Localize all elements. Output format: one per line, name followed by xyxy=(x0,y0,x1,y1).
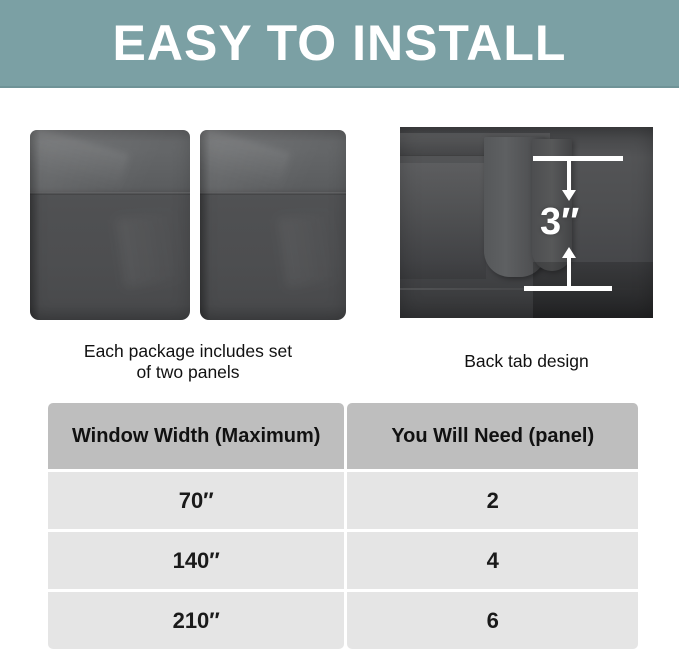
product-figures: 3″ xyxy=(0,88,679,333)
page-title: EASY TO INSTALL xyxy=(113,18,567,68)
caption-left-line1: Each package includes set xyxy=(30,341,346,362)
back-tab-photo: 3″ xyxy=(400,127,653,318)
caption-left-line2: of two panels xyxy=(30,362,346,383)
panel-crease-icon xyxy=(200,130,291,191)
shadow-region xyxy=(533,262,653,318)
cell-window-width: 70″ xyxy=(48,472,344,529)
caption-right: Back tab design xyxy=(400,351,653,372)
fabric-fold-left xyxy=(400,163,486,279)
table-row: 210″ 6 xyxy=(48,592,638,649)
cell-window-width: 140″ xyxy=(48,532,344,589)
back-tab-strip-2 xyxy=(532,139,572,271)
panel-fold-line xyxy=(200,192,346,195)
cell-panels-needed: 4 xyxy=(347,532,638,589)
table-header-row: Window Width (Maximum) You Will Need (pa… xyxy=(48,403,638,469)
curtain-panel-image-2 xyxy=(200,130,346,320)
column-header-window-width: Window Width (Maximum) xyxy=(48,403,344,469)
caption-left: Each package includes set of two panels xyxy=(30,341,346,382)
column-header-panels-needed: You Will Need (panel) xyxy=(347,403,638,469)
cell-panels-needed: 6 xyxy=(347,592,638,649)
panel-crease-lower-icon xyxy=(115,210,188,288)
header-banner: EASY TO INSTALL xyxy=(0,0,679,88)
cell-window-width: 210″ xyxy=(48,592,344,649)
cell-panels-needed: 2 xyxy=(347,472,638,529)
curtain-panel-image-1 xyxy=(30,130,190,320)
panel-crease-lower-icon xyxy=(277,210,345,287)
panel-crease-icon xyxy=(30,130,129,193)
sizing-table: Window Width (Maximum) You Will Need (pa… xyxy=(45,400,641,652)
table-row: 70″ 2 xyxy=(48,472,638,529)
table-row: 140″ 4 xyxy=(48,532,638,589)
panel-fold-line xyxy=(30,192,190,195)
curtain-panels-figure xyxy=(30,130,346,320)
